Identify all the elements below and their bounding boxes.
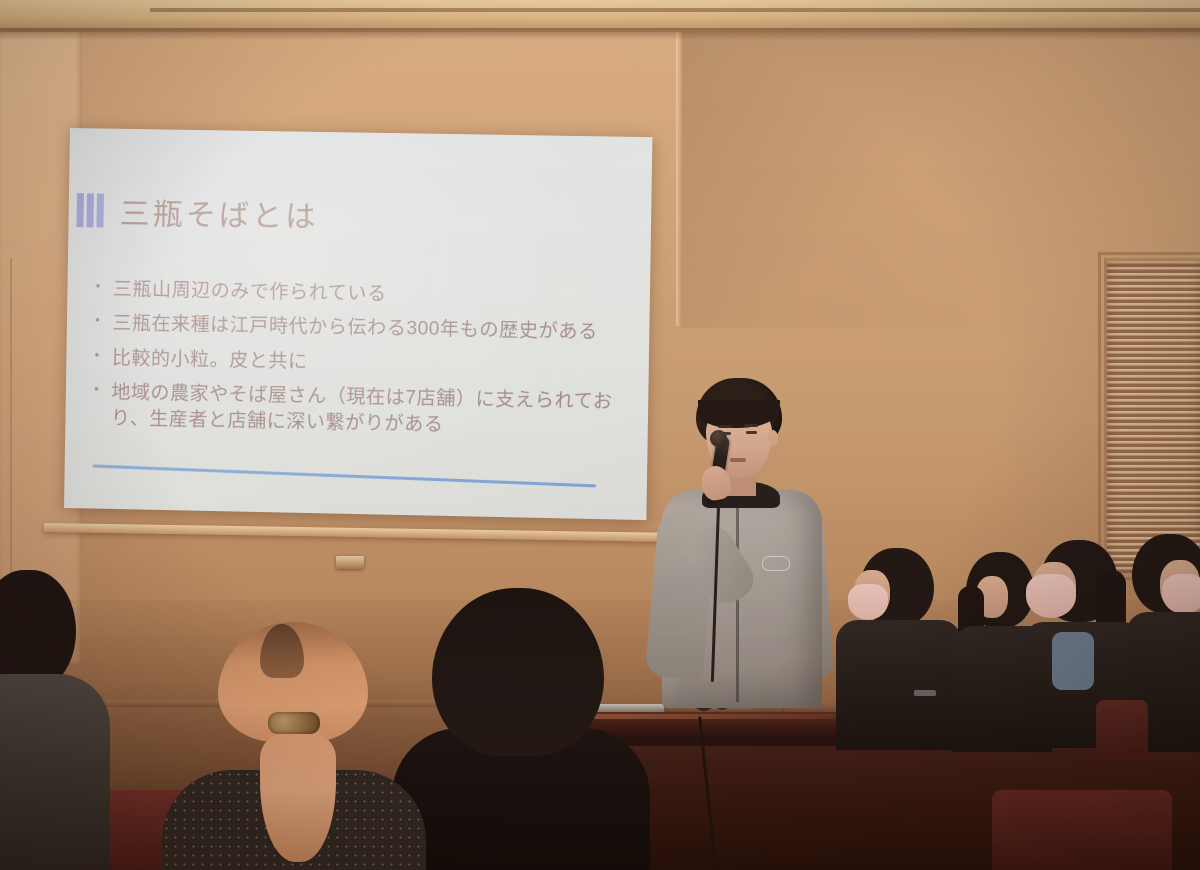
bullet-marker: ・ <box>88 345 106 368</box>
student-torso <box>836 620 962 750</box>
bullet-text: 地域の農家やそば屋さん（現在は7店舗）に支えられており、生産者と店舗に深い繋がり… <box>111 380 622 441</box>
face-mask-icon <box>1162 574 1200 614</box>
slide-title: 三瓶そばとは <box>119 189 318 236</box>
wall-seam <box>10 258 12 618</box>
list-item: ・ 三瓶山周辺のみで作られている <box>89 276 623 311</box>
presenter-eye-right <box>746 431 757 434</box>
audience-shoulders <box>0 674 110 870</box>
list-item: ・ 三瓶在来種は江戸時代から伝わる300年もの歴史がある <box>89 311 623 346</box>
chair-back <box>1096 700 1148 760</box>
jacket-zipper <box>736 502 739 702</box>
chair-back <box>992 790 1172 870</box>
bullet-marker: ・ <box>89 311 107 334</box>
face-mask-icon <box>848 584 888 620</box>
bullet-marker: ・ <box>89 276 107 299</box>
audience-hair <box>0 570 76 688</box>
bullet-text: 比較的小粒。皮と共に <box>112 346 623 381</box>
presenter-brow-right <box>744 424 758 427</box>
student-presenter <box>636 378 832 708</box>
presenter-mouth <box>730 458 746 462</box>
vent-frame <box>1098 252 1200 580</box>
shirt-embroidery <box>914 690 936 696</box>
bullet-text: 三瓶在来種は江戸時代から伝わる300年もの歴史がある <box>112 311 623 346</box>
soffit-shadow <box>0 28 1200 40</box>
seated-student <box>836 548 956 743</box>
audience-member-ponytail <box>168 622 420 870</box>
list-item: ・ 地域の農家やそば屋さん（現在は7店舗）に支えられており、生産者と店舗に深い繋… <box>87 380 622 442</box>
slide-title-row: 三瓶そばとは <box>76 188 318 236</box>
screen-wall-mount <box>336 556 364 569</box>
presenter-ear <box>768 430 778 446</box>
jacket-logo <box>762 556 790 571</box>
hair-clip <box>268 712 320 734</box>
projection-screen: 三瓶そばとは ・ 三瓶山周辺のみで作られている ・ 三瓶在来種は江戸時代から伝わ… <box>70 128 648 508</box>
slide-underline <box>93 465 596 488</box>
presentation-slide: 三瓶そばとは ・ 三瓶山周辺のみで作られている ・ 三瓶在来種は江戸時代から伝わ… <box>64 128 652 520</box>
photo-scene: 三瓶そばとは ・ 三瓶山周辺のみで作られている ・ 三瓶在来種は江戸時代から伝わ… <box>0 0 1200 870</box>
audience-hair <box>432 588 604 756</box>
slide-bullet-list: ・ 三瓶山周辺のみで作られている ・ 三瓶在来種は江戸時代から伝わる300年もの… <box>87 276 624 450</box>
face-mask-icon <box>1026 574 1076 618</box>
presenter-brow-left <box>718 425 732 428</box>
bullet-text: 三瓶山周辺のみで作られている <box>113 277 624 312</box>
list-item: ・ 比較的小粒。皮と共に <box>88 345 622 381</box>
bullet-marker: ・ <box>88 380 106 403</box>
inner-shirt <box>1052 632 1094 690</box>
audience-member-left <box>0 570 100 870</box>
wall-corner-edge <box>676 26 682 326</box>
three-bars-icon <box>76 193 104 227</box>
soffit-trim <box>150 8 1200 12</box>
audience-member-bob <box>398 588 644 870</box>
